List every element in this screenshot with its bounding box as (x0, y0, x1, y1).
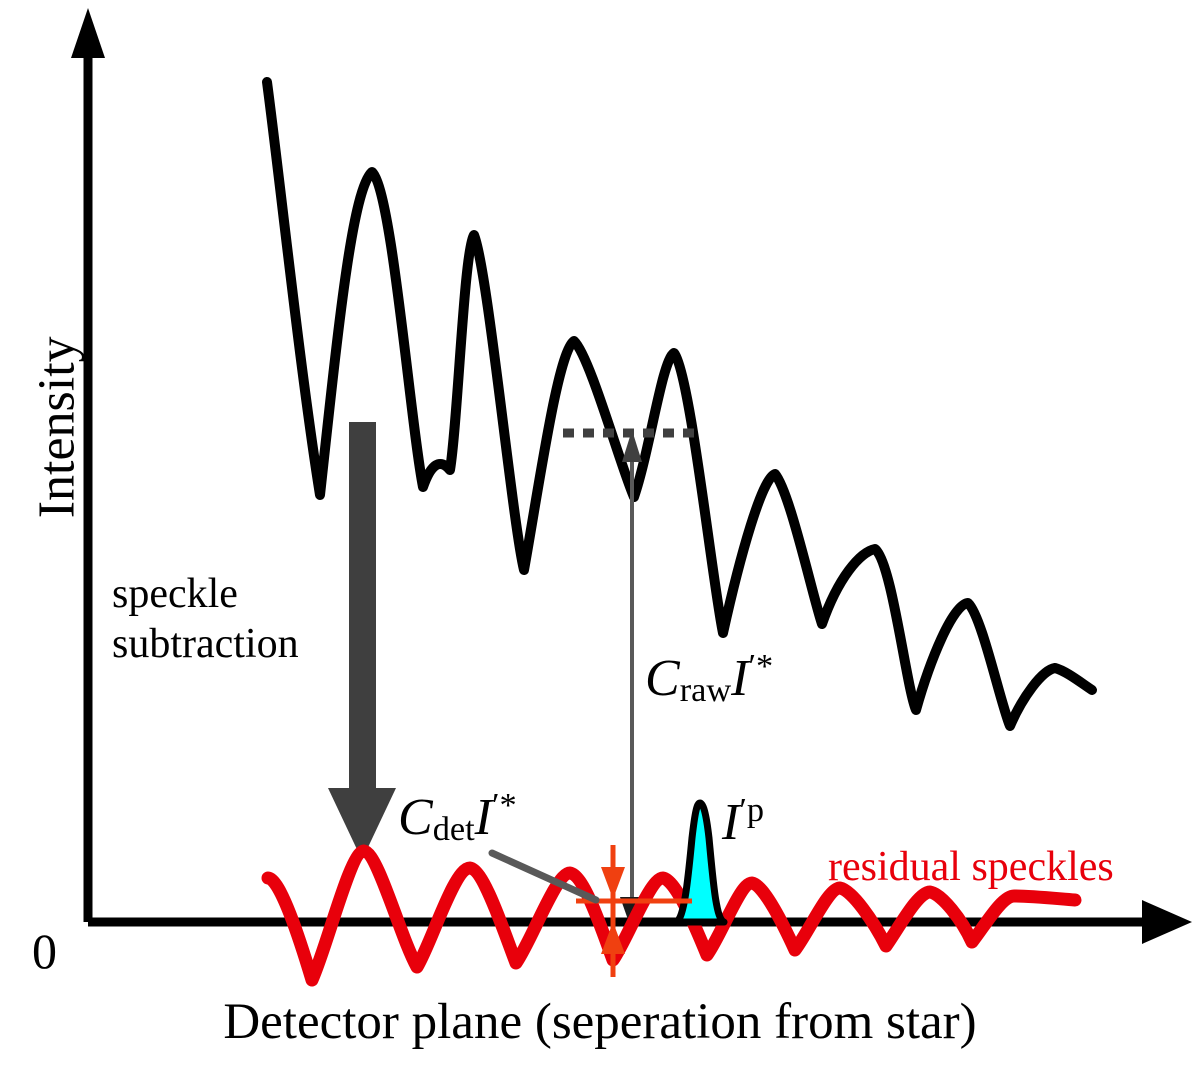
speckle-subtraction-label: speckle subtraction (112, 570, 299, 669)
ip-superscript: p (747, 791, 764, 829)
ip-prime: ′ (739, 791, 747, 829)
figure-root: Intensity Detector plane (seperation fro… (0, 0, 1200, 1065)
x-axis-label: Detector plane (seperation from star) (0, 996, 1200, 1050)
residual-speckles-label: residual speckles (828, 845, 1114, 889)
origin-label: 0 (32, 925, 57, 978)
craw-symbol: C (645, 650, 680, 707)
cdet-subscript: det (433, 810, 475, 848)
craw-measure-arrow (620, 430, 644, 931)
cdet-superscript: * (499, 786, 516, 824)
raw-speckle-curve (267, 82, 1092, 726)
planet-intensity-label: I′p (722, 792, 764, 850)
craw-subscript: raw (680, 671, 731, 709)
craw-prime: ′ (748, 647, 756, 685)
y-axis-label: Intensity (31, 307, 86, 547)
figure-canvas (0, 0, 1200, 1065)
craw-factor: I (731, 650, 748, 707)
ip-factor: I (722, 794, 739, 851)
craw-label: CrawI′* (645, 648, 773, 708)
cdet-label: CdetI′* (398, 787, 517, 847)
cdet-symbol: C (398, 789, 433, 846)
planet-peak (676, 803, 724, 922)
cdet-factor: I (475, 789, 492, 846)
speckle-subtraction-arrow (328, 422, 396, 860)
craw-superscript: * (756, 647, 773, 685)
